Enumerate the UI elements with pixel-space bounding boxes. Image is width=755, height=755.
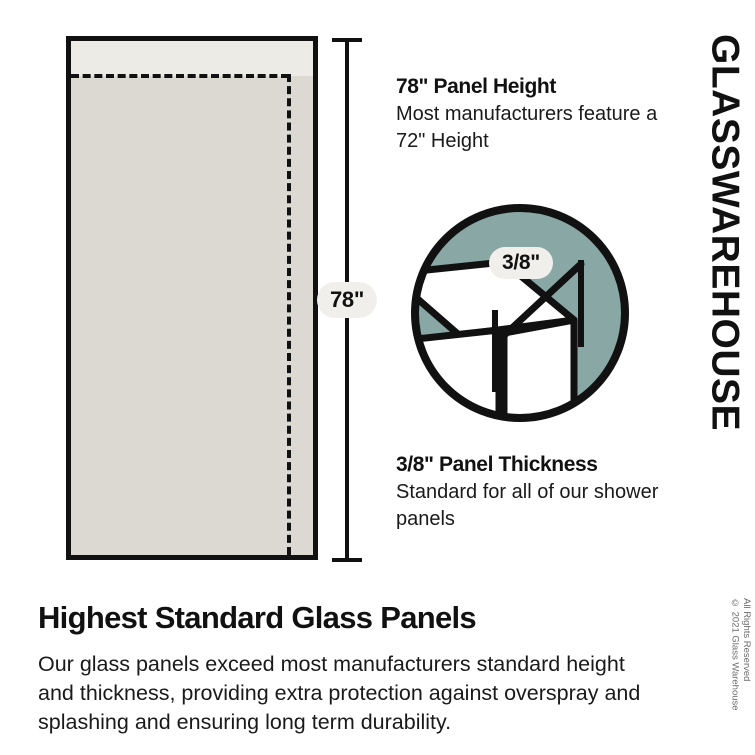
footer-heading: Highest Standard Glass Panels [38, 600, 658, 636]
callout-panel-thickness-body: Standard for all of our shower panels [396, 479, 664, 532]
callout-panel-height: 78" Panel Height Most manufacturers feat… [396, 74, 664, 154]
glass-edge-detail-illustration: 3/8" [409, 202, 631, 424]
callout-panel-thickness: 3/8" Panel Thickness Standard for all of… [396, 452, 664, 532]
copyright-block: © 2021 Glass Warehouse All Rights Reserv… [729, 598, 751, 728]
height-dimension-line: 78" [345, 38, 349, 562]
panel-dashed-reference-vertical [287, 74, 291, 555]
detail-geometry [409, 260, 581, 424]
callout-panel-thickness-title: 3/8" Panel Thickness [396, 452, 664, 477]
footer-body: Our glass panels exceed most manufacture… [38, 650, 658, 738]
glass-edge-detail-svg [409, 202, 631, 424]
brand-logo: GLASSWAREHOUSE [703, 34, 747, 454]
panel-dashed-reference-horizontal [71, 74, 289, 78]
dimension-cap-top [332, 38, 362, 42]
copyright-line-1: © 2021 Glass Warehouse [729, 598, 739, 728]
glass-panel-figure [66, 36, 318, 560]
infographic-canvas: 78" 78" Panel Height Most manufacturers … [0, 0, 755, 755]
footer-block: Highest Standard Glass Panels Our glass … [38, 600, 658, 737]
copyright-line-2: All Rights Reserved [741, 598, 751, 728]
callout-panel-height-title: 78" Panel Height [396, 74, 664, 99]
dimension-cap-bottom [332, 558, 362, 562]
callout-panel-height-body: Most manufacturers feature a 72" Height [396, 101, 664, 154]
thickness-badge: 3/8" [489, 247, 553, 279]
brand-wordmark: GLASSWAREHOUSE [706, 34, 745, 431]
height-dimension-badge: 78" [317, 282, 377, 318]
panel-lower-fill [71, 76, 313, 555]
